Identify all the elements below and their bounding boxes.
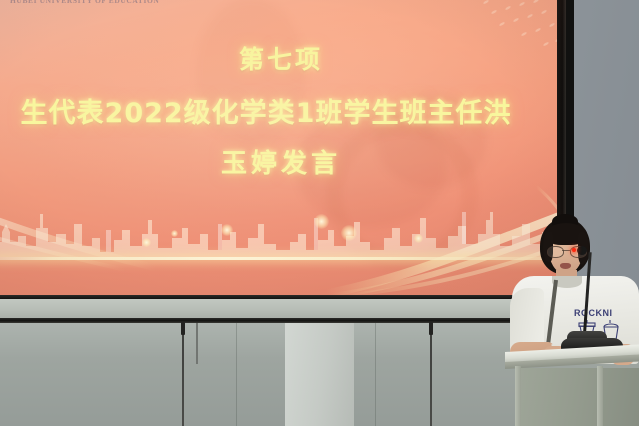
slide-body-line-2: 玉婷发言: [0, 143, 566, 180]
city-light: [171, 230, 178, 237]
eyeglass-lens: [547, 246, 564, 258]
city-light: [314, 214, 329, 229]
projection-screen-frame: HUBEI UNIVERSITY OF EDUCATION 第七项 生代表202…: [0, 0, 574, 299]
city-light: [341, 225, 357, 241]
podium-leg: [515, 366, 521, 426]
speaker-mouth: [560, 263, 571, 269]
hanging-cable: [430, 322, 432, 426]
hanging-cable: [182, 322, 184, 426]
slide-body-line-1: 生代表2022级化学类1班学生班主任洪: [0, 91, 566, 130]
screen-bottom-bezel: [0, 295, 574, 299]
wall-seam: [236, 323, 237, 426]
wall-seam: [375, 323, 376, 426]
hanging-cable: [196, 322, 198, 364]
city-light: [221, 224, 233, 236]
projected-slide: HUBEI UNIVERSITY OF EDUCATION 第七项 生代表202…: [0, 0, 566, 296]
eyeglass-bridge: [562, 250, 570, 251]
wall-pillar: [285, 323, 354, 426]
podium: [505, 352, 639, 426]
slide-brand-text: HUBEI UNIVERSITY OF EDUCATION: [10, 0, 159, 5]
slide-heading-wrap: 第七项: [0, 40, 566, 76]
city-light: [414, 234, 423, 243]
slide-heading: 第七项: [0, 40, 566, 76]
city-light: [142, 238, 151, 247]
cable-clip: [429, 322, 433, 335]
presentation-scene: HUBEI UNIVERSITY OF EDUCATION 第七项 生代表202…: [0, 0, 639, 426]
microphone-capsule: [577, 246, 587, 255]
podium-leg: [597, 366, 603, 426]
city-skyline-silhouette-icon: [0, 194, 566, 260]
cable-clip: [181, 322, 185, 335]
shirt-logo-text: ROCKNI: [574, 308, 613, 318]
microphone-status-led: [572, 248, 576, 252]
podium-body: [515, 368, 639, 426]
glowing-horizon-line: [0, 257, 566, 260]
